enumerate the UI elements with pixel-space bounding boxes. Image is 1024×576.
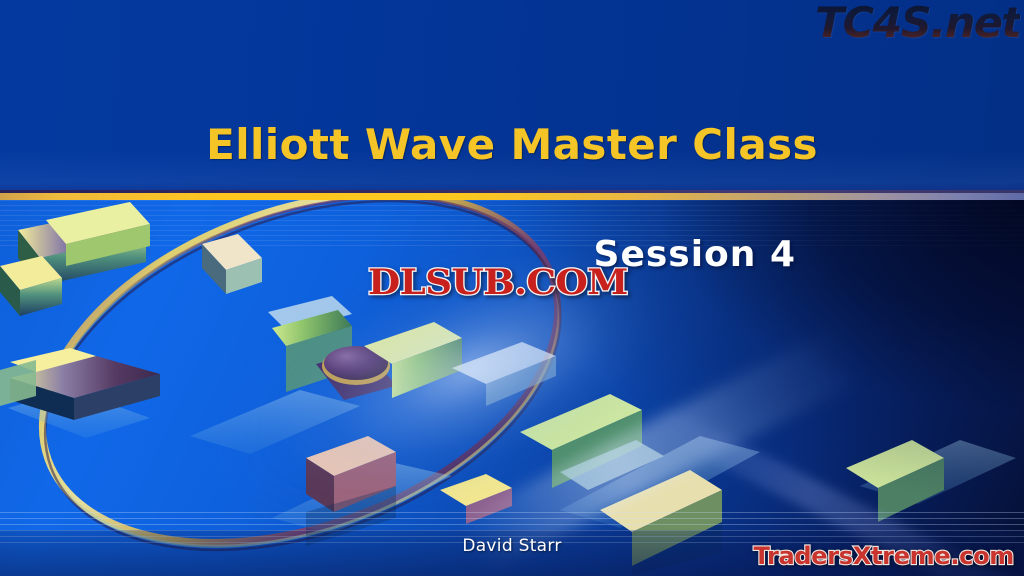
divider-gold-line — [0, 193, 1024, 200]
watermark-dlsub: DLSUB.COM — [368, 262, 628, 303]
watermark-tc4s: TC4S.net — [815, 0, 1020, 47]
page-title: Elliott Wave Master Class — [0, 120, 1024, 169]
watermark-tradersxtreme: TradersXtreme.com — [754, 542, 1014, 570]
presentation-slide: Elliott Wave Master Class TC4S.net — [0, 0, 1024, 576]
